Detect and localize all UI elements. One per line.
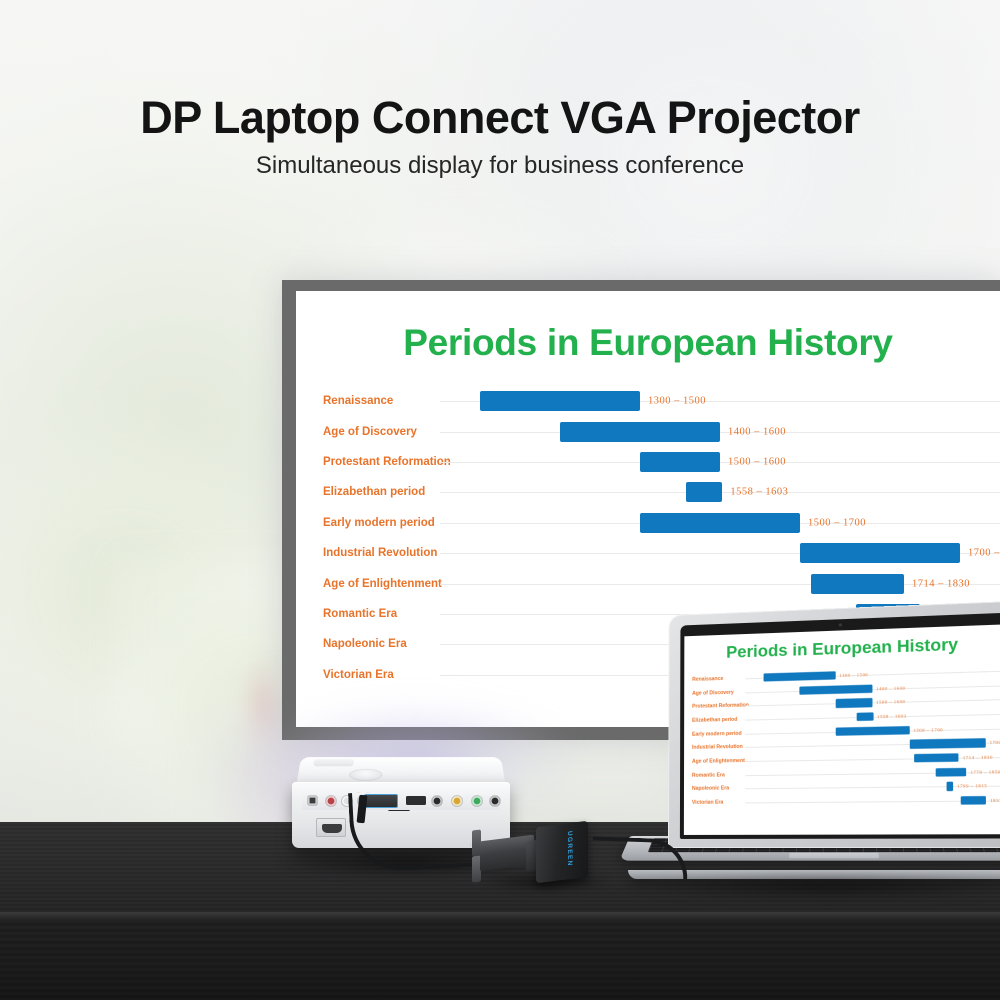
chart-row: Early modern period1500 – 1700: [296, 508, 1000, 538]
chart-row-leader-line: [440, 462, 1000, 463]
chart-row-track: 1837 – 1901: [745, 794, 1000, 809]
chart-row-label: Elizabethan period: [323, 486, 440, 498]
chart-row-label: Renaissance: [692, 675, 745, 683]
chart-bar: [835, 726, 909, 736]
chart-bar: [763, 671, 835, 682]
chart-row-track: 1500 – 1700: [440, 508, 1000, 538]
chart-row-label: Romantic Era: [323, 608, 440, 620]
page-title: DP Laptop Connect VGA Projector: [0, 92, 1000, 144]
chart-bar-range-label: 1300 – 1500: [648, 396, 706, 407]
laptop-chart-title: Periods in European History: [684, 624, 1000, 664]
chart-row-leader-line: [745, 757, 1000, 762]
chart-bar-range-label: 1500 – 1700: [808, 517, 866, 528]
chart-row-leader-line: [745, 685, 1000, 693]
projector-focus-dial[interactable]: [349, 769, 383, 781]
chart-row: Age of Enlightenment1714 – 1830: [296, 568, 1000, 598]
chart-bar: [909, 739, 985, 749]
chart-row-track: 1500 – 1600: [440, 447, 1000, 477]
chart-bar-range-label: 1837 – 1901: [990, 798, 1000, 804]
optical-port-icon[interactable]: [308, 796, 317, 805]
chart-row: Protestant Reformation1500 – 1600: [296, 447, 1000, 477]
chart-row-label: Protestant Reformation: [692, 703, 745, 710]
chart-bar-range-label: 1400 – 1600: [728, 426, 786, 437]
chart-bar: [811, 574, 904, 594]
laptop-shadow: [640, 876, 1000, 898]
chart-bar-range-label: 1799 – 1815: [957, 783, 987, 789]
chart-bar: [856, 712, 873, 721]
chart-bar-range-label: 1558 – 1603: [730, 487, 788, 498]
chart-row-label: Victorian Era: [692, 799, 745, 805]
chart-row-label: Victorian Era: [323, 669, 440, 681]
chart-row: Age of Discovery1400 – 1600: [296, 416, 1000, 446]
laptop-bezel: Periods in European History Renaissance1…: [680, 613, 1000, 839]
chart-row-track: 1558 – 1603: [440, 477, 1000, 507]
component-port-red-icon[interactable]: [326, 796, 336, 806]
chart-row-track: 1714 – 1830: [440, 569, 1000, 599]
laptop: Periods in European History Renaissance1…: [668, 614, 1000, 890]
chart-bar: [915, 753, 959, 762]
audio-port-black-icon[interactable]: [490, 796, 500, 806]
chart-row-label: Napoleonic Era: [692, 786, 745, 793]
chart-bar: [560, 422, 720, 442]
chart-bar-range-label: 1558 – 1603: [877, 713, 906, 719]
chart-row-track: 1400 – 1600: [440, 417, 1000, 447]
chart-row-leader-line: [745, 699, 1000, 706]
chart-bar-range-label: 1714 – 1830: [963, 755, 993, 761]
chart-row-label: Age of Discovery: [323, 426, 440, 438]
chart-bar-range-label: 1700 – 1900: [968, 548, 1000, 559]
chart-row-label: Age of Discovery: [692, 689, 745, 696]
chart-row-label: Early modern period: [323, 517, 440, 529]
chart-bar-range-label: 1700 – 1900: [990, 740, 1000, 746]
chart-row-label: Industrial Revolution: [323, 547, 440, 559]
chart-bar: [640, 513, 800, 533]
chart-bar-range-label: 1714 – 1830: [912, 578, 970, 589]
chart-bar-range-label: 1500 – 1600: [876, 699, 905, 705]
chart-row: Renaissance1300 – 1500: [296, 386, 1000, 416]
chart-row-label: Early modern period: [692, 730, 745, 737]
chart-row: Industrial Revolution1700 – 1900: [296, 538, 1000, 568]
chart-row-label: Renaissance: [323, 395, 440, 407]
chart-bar: [936, 768, 966, 777]
webcam-icon: [839, 623, 842, 626]
chart-bar-range-label: 1500 – 1600: [728, 456, 786, 467]
chart-row-track: 1700 – 1900: [440, 538, 1000, 568]
laptop-chart: Periods in European History Renaissance1…: [684, 624, 1000, 809]
chart-bar: [961, 796, 986, 805]
chart-row-label: Protestant Reformation: [323, 456, 440, 468]
chart-bar-range-label: 1400 – 1600: [876, 685, 905, 691]
chart-bar: [800, 543, 960, 563]
chart-row-label: Elizabethan period: [692, 716, 745, 723]
dp-to-vga-adapter: UGREEN: [470, 812, 610, 892]
chart-row-label: Age of Enlightenment: [323, 578, 440, 590]
laptop-lid: Periods in European History Renaissance1…: [668, 601, 1000, 848]
projector-vent: [313, 759, 354, 766]
laptop-trackpad[interactable]: [789, 853, 879, 858]
desk-front-panel: [0, 920, 1000, 1000]
adapter-body: UGREEN: [536, 821, 588, 883]
chart-bar-range-label: 1500 – 1700: [914, 727, 944, 733]
product-scene: DP Laptop Connect VGA Projector Simultan…: [0, 0, 1000, 1000]
chart-row-leader-line: [440, 432, 1000, 433]
chart-row-label: Romantic Era: [692, 772, 745, 779]
laptop-screen: Periods in European History Renaissance1…: [684, 624, 1000, 835]
chart-bar-range-label: 1300 – 1500: [839, 672, 868, 678]
chart-bar-range-label: 1770 – 1850: [970, 769, 1000, 775]
chart-row: Victorian Era1837 – 1901: [684, 793, 1000, 810]
chart-bar: [835, 698, 872, 708]
chart-bar: [640, 452, 720, 472]
audio-port-green-icon[interactable]: [472, 796, 482, 806]
chart-bar: [686, 482, 722, 502]
chart-bar: [480, 391, 640, 411]
chart-row-label: Napoleonic Era: [323, 638, 440, 650]
brand-label: UGREEN: [566, 831, 573, 867]
chart-row-label: Industrial Revolution: [692, 744, 745, 751]
power-inlet[interactable]: [316, 818, 346, 837]
chart-bar: [799, 684, 872, 695]
chart-row-track: 1300 – 1500: [440, 386, 1000, 416]
laptop-chart-rows: Renaissance1300 – 1500Age of Discovery14…: [684, 663, 1000, 809]
chart-row-label: Age of Enlightenment: [692, 758, 745, 765]
page-subtitle: Simultaneous display for business confer…: [0, 152, 1000, 180]
chart-bar: [947, 782, 953, 791]
chart-title: Periods in European History: [296, 291, 1000, 364]
chart-row: Elizabethan period1558 – 1603: [296, 477, 1000, 507]
